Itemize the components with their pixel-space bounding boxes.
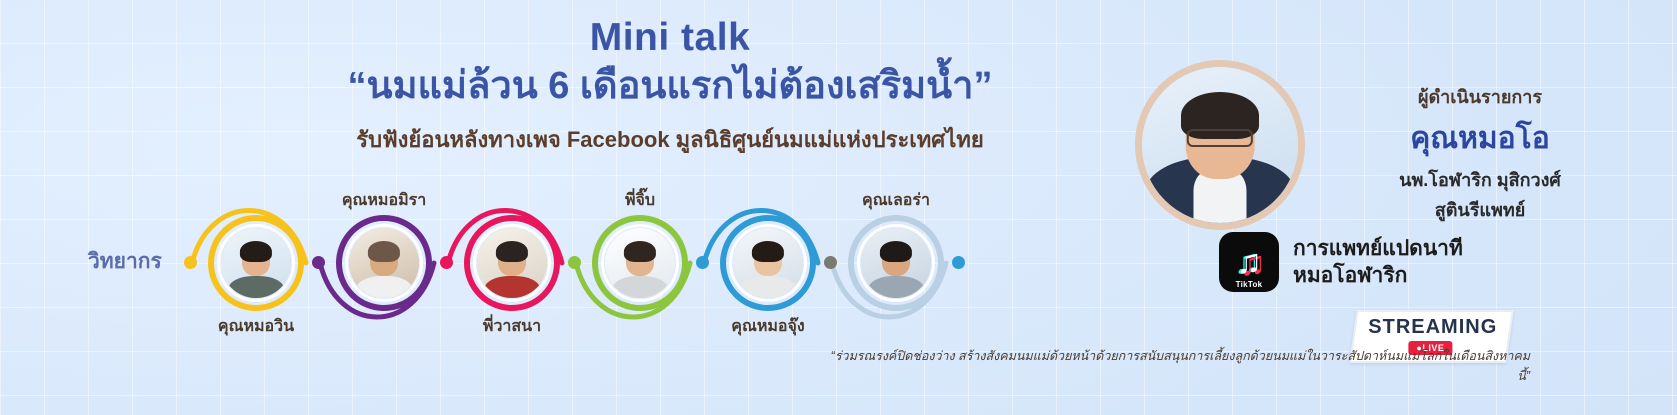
connector-dot [568, 256, 581, 269]
avatar-photo [733, 228, 803, 298]
streaming-label: STREAMING [1368, 316, 1497, 339]
host-role: ผู้ดำเนินรายการ [1315, 82, 1645, 111]
avatar-photo [477, 228, 547, 298]
connector-dot-end [952, 256, 965, 269]
avatar-photo [861, 228, 931, 298]
speaker-label-1: คุณหมอวิน [186, 314, 326, 339]
tiktok-icon[interactable]: ♫ ♫ ♫ TikTok [1219, 232, 1279, 292]
tiktok-channel-line2: หมอโอฬาริก [1293, 262, 1463, 289]
headline-block: Mini talk “นมแม่ล้วน 6 เดือนแรกไม่ต้องเส… [300, 18, 1040, 157]
speaker-avatar-3[interactable] [464, 215, 560, 311]
page-title: Mini talk [300, 18, 1040, 59]
glasses-icon [1187, 129, 1253, 147]
tiktok-row[interactable]: ♫ ♫ ♫ TikTok การแพทย์แปดนาที หมอโอฬาริก [1219, 232, 1463, 292]
speaker-label-3: พี่วาสนา [442, 314, 582, 339]
avatar-photo [605, 228, 675, 298]
speaker-label-4: พี่จิ๊บ [570, 188, 710, 213]
speakers-section-label: วิทยากร [88, 245, 162, 278]
subtitle: รับฟังย้อนหลังทางเพจ Facebook มูลนิธิศูน… [300, 122, 1040, 157]
tiktok-channel: การแพทย์แปดนาที หมอโอฬาริก [1293, 235, 1463, 290]
speaker-avatar-6[interactable] [848, 215, 944, 311]
host-info: ผู้ดำเนินรายการ คุณหมอโอ นพ.โอฬาริก มุสิ… [1315, 82, 1645, 223]
speaker-label-2: คุณหมอมิรา [314, 188, 454, 213]
footer-note: “ร่วมรณรงค์ปิดช่องว่าง สร้างสังคมนมแม่ด้… [830, 346, 1530, 386]
speaker-avatar-4[interactable] [592, 215, 688, 311]
speaker-label-6: คุณเลอร่า [826, 188, 966, 213]
poster-canvas: Mini talk “นมแม่ล้วน 6 เดือนแรกไม่ต้องเส… [0, 0, 1677, 415]
connector-dot [824, 256, 837, 269]
connector-dot-start [184, 256, 197, 269]
headline-quote: “นมแม่ล้วน 6 เดือนแรกไม่ต้องเสริมน้ำ” [300, 61, 1040, 112]
tiktok-note-white: ♫ [1236, 245, 1262, 279]
connector-dot [440, 256, 453, 269]
host-specialty: สูตินรีแพทย์ [1315, 198, 1645, 222]
speaker-avatar-5[interactable] [720, 215, 816, 311]
host-nickname: คุณหมอโอ [1315, 115, 1645, 162]
speaker-avatar-1[interactable] [208, 215, 304, 311]
connector-dot [696, 256, 709, 269]
speaker-label-5: คุณหมอจุ๊ง [698, 314, 838, 339]
host-avatar[interactable] [1135, 60, 1305, 230]
avatar-photo [349, 228, 419, 298]
speaker-avatar-2[interactable] [336, 215, 432, 311]
tiktok-channel-line1: การแพทย์แปดนาที [1293, 235, 1463, 262]
host-fullname: นพ.โอฬาริก มุสิกวงศ์ [1315, 168, 1645, 192]
avatar-photo [221, 228, 291, 298]
connector-dot [312, 256, 325, 269]
